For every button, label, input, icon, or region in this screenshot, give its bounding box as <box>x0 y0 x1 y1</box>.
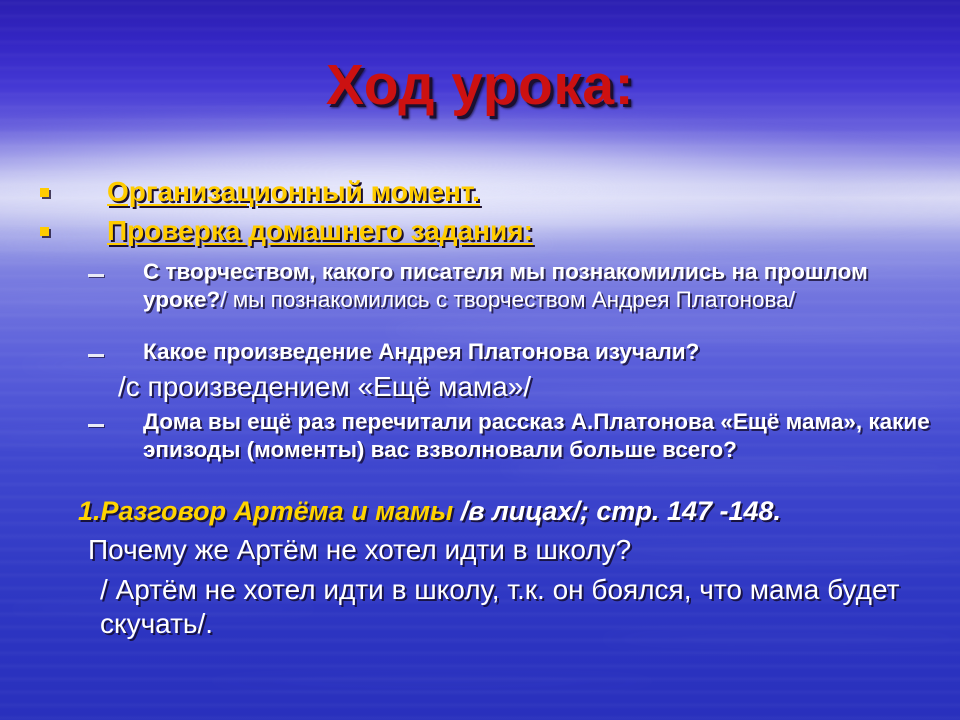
sub-bullet-body: Какое произведение Андрея Платонова изуч… <box>143 338 699 366</box>
sub-bullet-question: Дома вы ещё раз перечитали рассказ А.Пла… <box>143 409 930 462</box>
sub-bullet-item: Дома вы ещё раз перечитали рассказ А.Пла… <box>88 408 934 463</box>
slide-title: Ход урока: <box>0 56 960 116</box>
square-bullet-icon <box>40 188 49 197</box>
sub-bullet-question: Какое произведение Андрея Платонова изуч… <box>143 339 699 364</box>
sub-bullet-body: С творчеством, какого писателя мы познак… <box>143 258 934 313</box>
dialog-task-detail: /в лицах/; стр. 147 -148. <box>453 496 781 526</box>
sub-bullet-body: Дома вы ещё раз перечитали рассказ А.Пла… <box>143 408 934 463</box>
answer-school: / Артём не хотел идти в школу, т.к. он б… <box>100 573 920 641</box>
main-bullet-label: Проверка домашнего задания: <box>107 215 533 247</box>
main-bullet-item: Проверка домашнего задания: <box>40 215 533 247</box>
dialog-task-line: 1.Разговор Артёма и мамы /в лицах/; стр.… <box>78 496 781 527</box>
square-bullet-icon <box>40 227 49 236</box>
main-bullet-label: Организационный момент. <box>107 176 480 208</box>
answer-work-title: /с произведением «Ещё мама»/ <box>118 370 531 404</box>
question-school: Почему же Артём не хотел идти в школу? <box>88 533 631 567</box>
main-bullet-item: Организационный момент. <box>40 176 480 208</box>
sub-bullet-answer: / мы познакомились с творчеством Андрея … <box>220 287 795 312</box>
dash-bullet-icon <box>88 424 104 427</box>
dash-bullet-icon <box>88 354 104 357</box>
dash-bullet-icon <box>88 274 104 277</box>
sub-bullet-item: С творчеством, какого писателя мы познак… <box>88 258 934 313</box>
slide-content: Ход урока: Организационный момент. Прове… <box>0 0 960 720</box>
sub-bullet-item: Какое произведение Андрея Платонова изуч… <box>88 338 934 366</box>
dialog-task-highlight: 1.Разговор Артёма и мамы <box>78 496 453 526</box>
presentation-slide: Ход урока: Организационный момент. Прове… <box>0 0 960 720</box>
